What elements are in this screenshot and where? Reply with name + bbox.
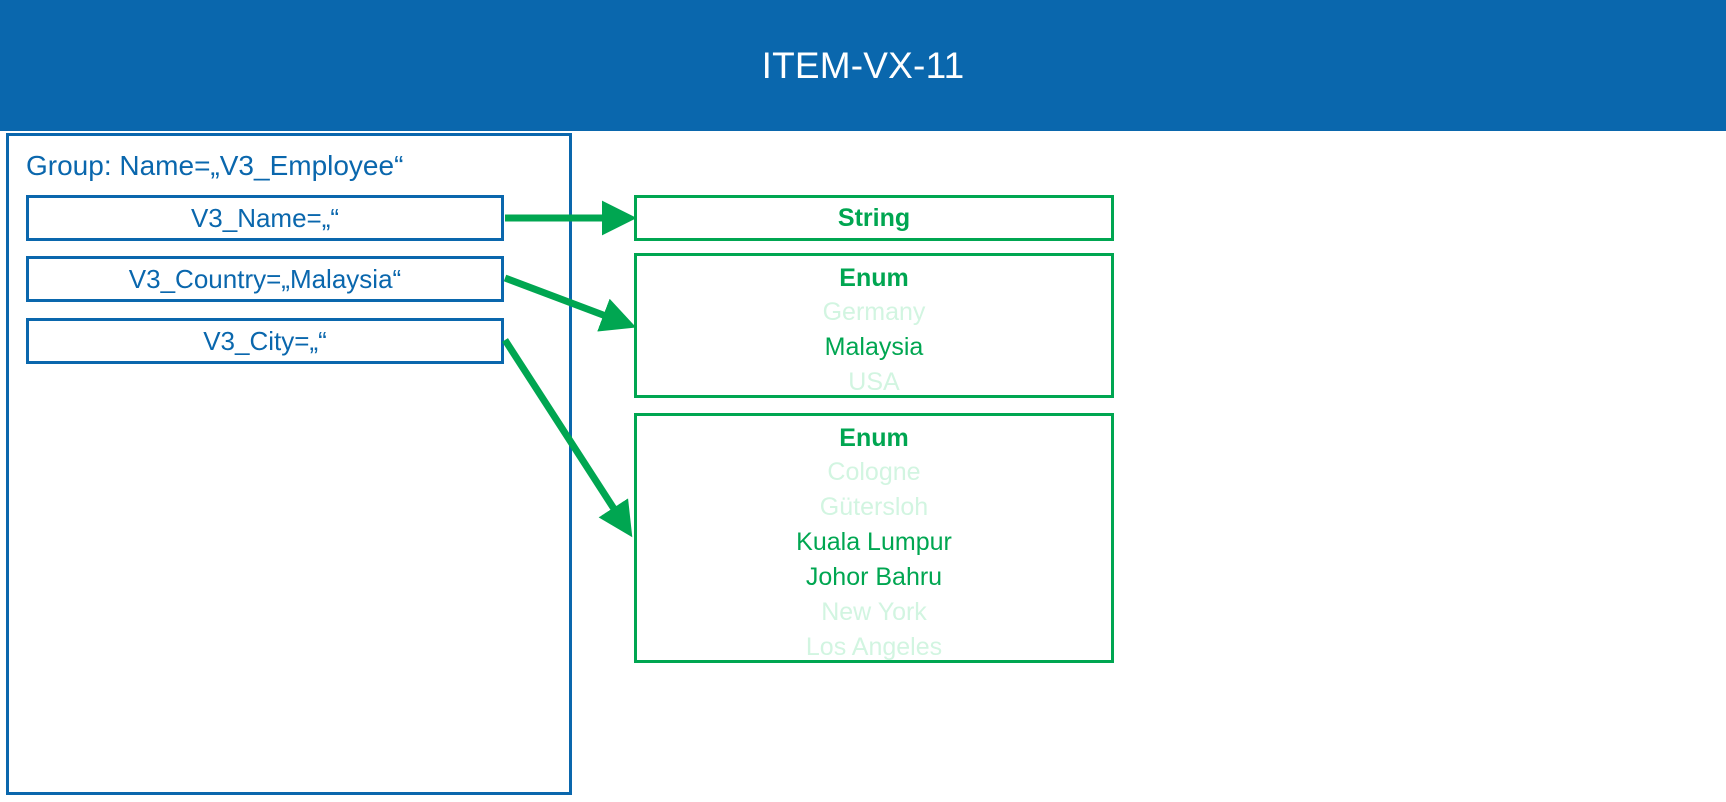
field-box-v3-country[interactable]: V3_Country=„Malaysia“	[26, 256, 504, 302]
enum-item[interactable]: Malaysia	[825, 330, 924, 365]
type-box-enum-city: Enum Cologne Gütersloh Kuala Lumpur Joho…	[634, 413, 1114, 663]
field-box-v3-city[interactable]: V3_City=„“	[26, 318, 504, 364]
diagram-canvas: ITEM-VX-11 Group: Name=„V3_Employee“ V3_…	[0, 0, 1726, 802]
field-box-v3-name[interactable]: V3_Name=„“	[26, 195, 504, 241]
type-box-title: Enum	[839, 261, 908, 295]
type-box-title: String	[838, 201, 910, 235]
enum-item[interactable]: Germany	[823, 295, 926, 330]
enum-item[interactable]: New York	[821, 595, 927, 630]
enum-item[interactable]: Kuala Lumpur	[796, 525, 952, 560]
group-panel-label: Group: Name=„V3_Employee“	[26, 152, 403, 180]
enum-item[interactable]: Johor Bahru	[806, 560, 942, 595]
page-title: ITEM-VX-11	[0, 0, 1726, 131]
enum-item[interactable]: Los Angeles	[806, 630, 942, 665]
type-box-string: String	[634, 195, 1114, 241]
enum-item[interactable]: Cologne	[827, 455, 920, 490]
enum-item[interactable]: Gütersloh	[820, 490, 928, 525]
type-box-title: Enum	[839, 421, 908, 455]
header-banner: ITEM-VX-11	[0, 0, 1726, 131]
enum-item[interactable]: USA	[848, 365, 899, 400]
type-box-enum-country: Enum Germany Malaysia USA	[634, 253, 1114, 398]
